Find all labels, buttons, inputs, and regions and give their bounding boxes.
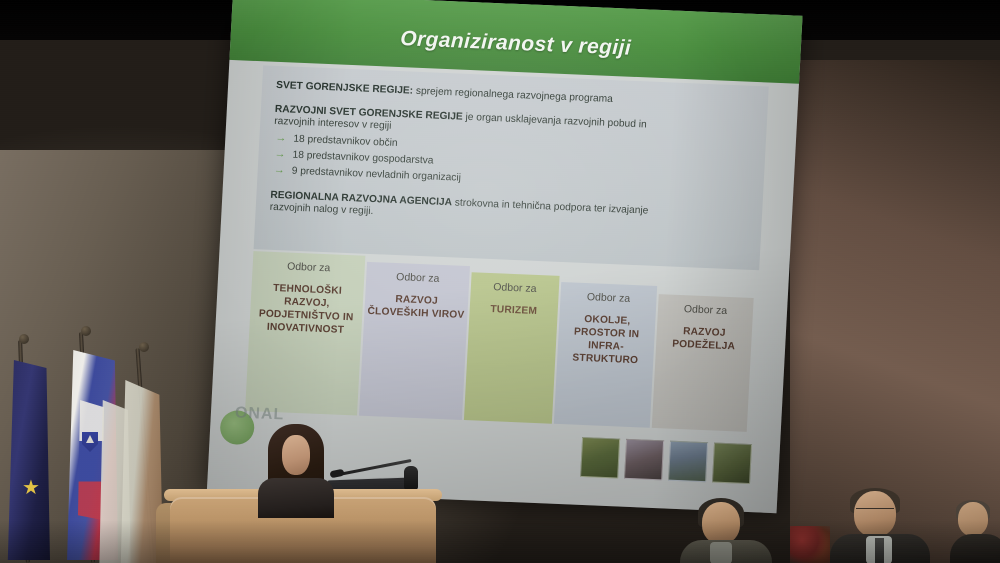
panelist-left [680,498,772,563]
committee-body-2: TURIZEM [490,303,537,318]
committee-head-0: Odbor za [287,260,331,274]
committee-box-row: Odbor za TEHNOLOŠKI RAZVOJ, PODJETNIŠTVO… [246,251,776,425]
committee-head-3: Odbor za [587,291,631,305]
panelist-tie [875,538,884,563]
photo-thumbnail [712,443,752,485]
committee-box-podezelje: Odbor za RAZVOJ PODEŽELJA [652,294,754,432]
panelist-head [958,502,988,536]
slide-logo-text: ONAL [233,404,415,451]
flagpole-finial [139,342,149,352]
photo-thumbnail [668,441,708,483]
panelist-torso [950,534,1000,563]
paragraph-svet-rest: sprejem regionalnega razvojnega programa [413,86,613,105]
photo-thumbnail [580,437,620,479]
committee-body-1: RAZVOJ ČLOVEŠKIH VIROV [364,292,468,322]
presentation-photo-scene: Organiziranost v regiji SVET GORENJSKE R… [0,0,1000,563]
committee-box-okolje: Odbor za OKOLJE, PROSTOR IN INFRA- STRUK… [554,282,657,428]
panelist-far-right [950,500,1000,563]
slovenia-flag-stripes [78,400,104,520]
panelist-right [830,488,930,563]
slide-photo-strip [580,437,752,484]
flower-arrangement [790,526,830,563]
committee-head-2: Odbor za [493,281,537,295]
arrow-right-icon: → [274,148,286,160]
flagpole-finial [19,334,29,344]
panelist-head [854,491,896,537]
committee-body-3: OKOLJE, PROSTOR IN INFRA- STRUKTURO [557,312,656,368]
panelist-shirt [710,542,732,563]
committee-box-turizem: Odbor za TURIZEM [464,272,560,423]
committee-head-4: Odbor za [684,303,728,317]
glasses-icon [856,508,894,514]
paragraph-svet-strong: SVET GORENJSKE REGIJE: [276,80,413,97]
committee-body-4: RAZVOJ PODEŽELJA [656,324,752,354]
arrow-right-icon: → [273,164,285,176]
committee-box-tehnoloski: Odbor za TEHNOLOŠKI RAZVOJ, PODJETNIŠTVO… [245,251,365,415]
microphone-base [404,466,418,490]
arrow-right-icon: → [275,132,287,144]
flagpole-finial [81,326,91,336]
committee-head-1: Odbor za [396,271,440,285]
speaker-torso [258,478,334,518]
committee-box-cloveski-viri: Odbor za RAZVOJ ČLOVEŠKIH VIROV [359,262,470,420]
panelist-head [702,502,740,544]
speaker-face [282,435,310,475]
photo-thumbnail [624,439,664,481]
committee-body-0: TEHNOLOŠKI RAZVOJ, PODJETNIŠTVO IN INOVA… [249,281,364,338]
slide-text-panel: SVET GORENJSKE REGIJE: sprejem regionaln… [254,65,769,270]
